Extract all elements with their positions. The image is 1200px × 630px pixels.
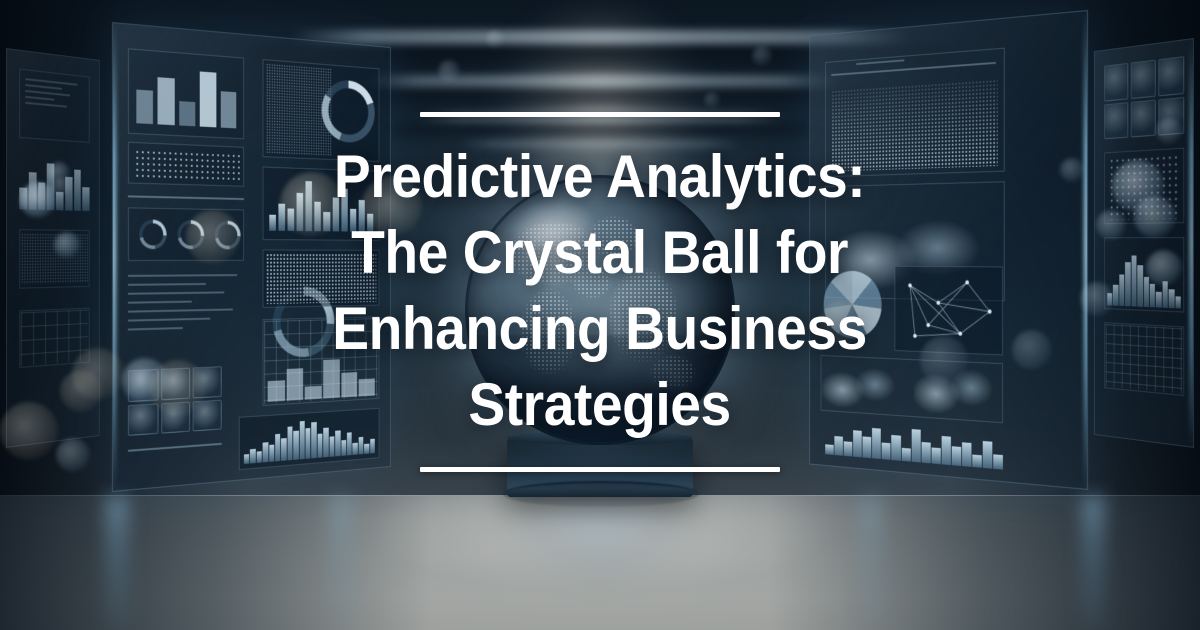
bokeh-orb [438, 60, 460, 82]
floor-light-streak-2 [330, 496, 352, 630]
far-right-thumb [1104, 63, 1128, 101]
floor-light-streak-3 [860, 496, 882, 630]
floor-right-shadow [770, 496, 1200, 630]
title-divider-top [420, 112, 780, 117]
pedestal-base-ellipse [503, 481, 699, 507]
far-right-thumb [1158, 56, 1184, 96]
page-title: Predictive Analytics: The Crystal Ball f… [333, 139, 868, 443]
floor-light-streak-4 [1082, 496, 1104, 630]
hero-title-block: Predictive Analytics: The Crystal Ball f… [0, 112, 1200, 472]
far-right-thumb [1131, 60, 1156, 99]
floor-light-streak-1 [106, 496, 128, 630]
bokeh-orb [752, 46, 772, 66]
ceiling-light-bar-2 [360, 75, 840, 87]
bokeh-orb [486, 30, 504, 48]
bokeh-orb [704, 92, 720, 108]
floor-left-shadow [0, 496, 430, 630]
globe-floor-reflection [495, 503, 705, 593]
far-left-text-lines [25, 78, 84, 109]
ceiling-beam-shadow-2 [330, 89, 870, 109]
hero-banner: Predictive Analytics: The Crystal Ball f… [0, 0, 1200, 630]
title-divider-bottom [420, 467, 780, 472]
